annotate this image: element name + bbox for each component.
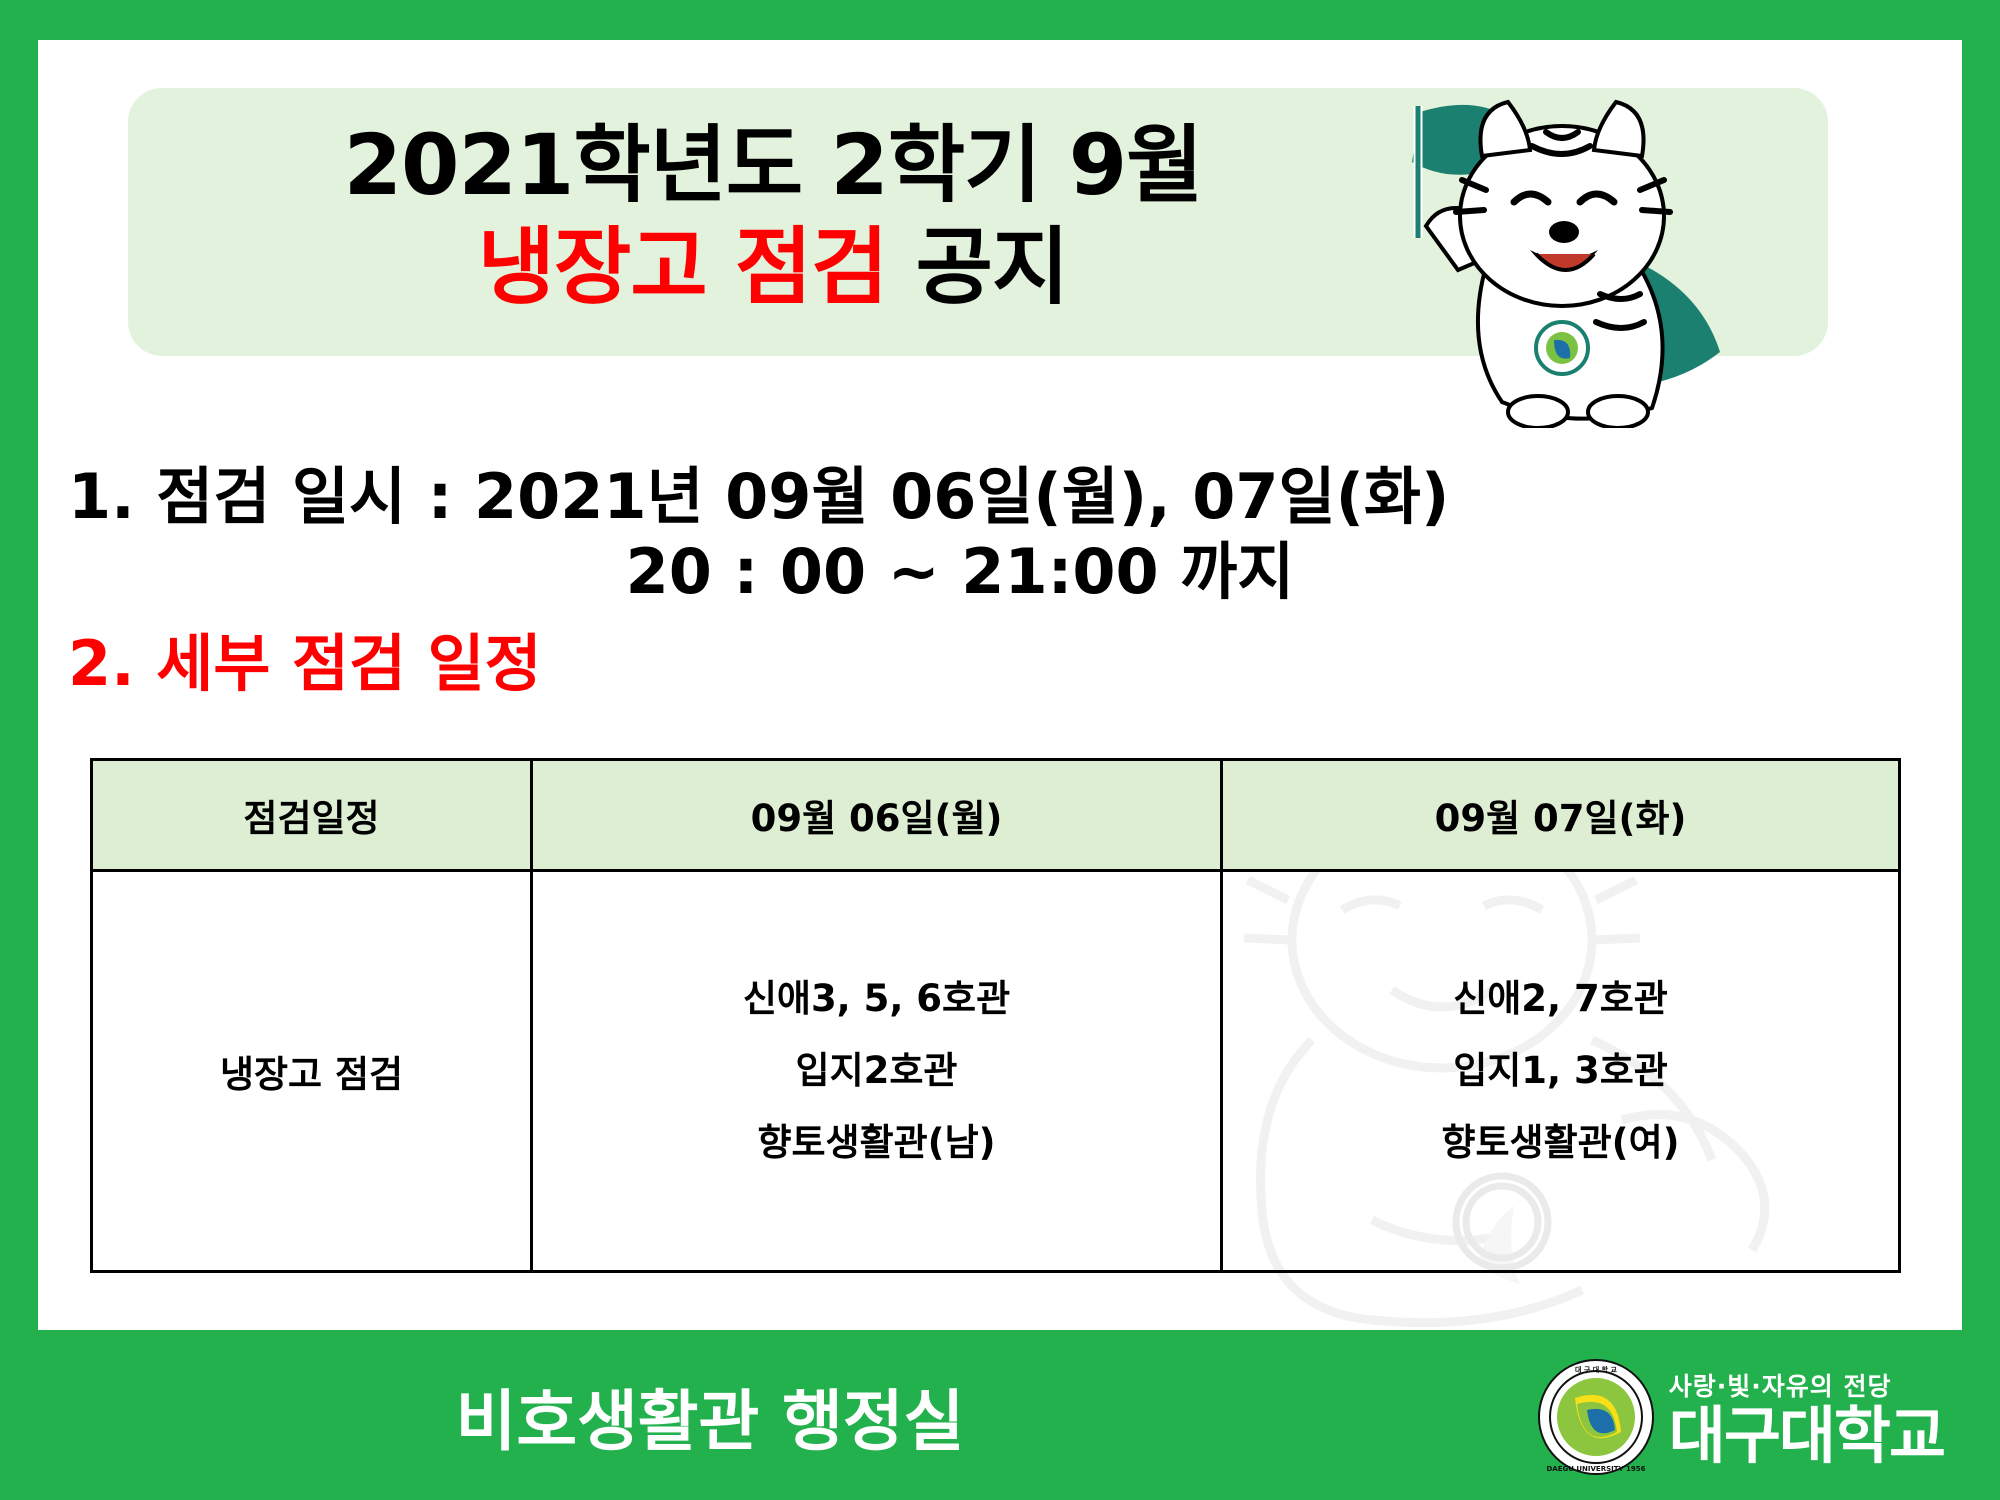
table-header-day1: 09월 06일(월)	[532, 760, 1222, 871]
footer-office-name: 비호생활관 행정실	[0, 1368, 1420, 1464]
title-suffix: 공지	[887, 218, 1068, 316]
day1-line-2: 입지2호관	[533, 1035, 1220, 1107]
cell-day1-buildings: 신애3, 5, 6호관 입지2호관 향토생활관(남)	[532, 871, 1222, 1272]
day2-line-3: 향토생활관(여)	[1223, 1107, 1898, 1179]
row-label-refrigerator-inspection: 냉장고 점검	[92, 871, 532, 1272]
table-header-schedule: 점검일정	[92, 760, 532, 871]
day2-line-2: 입지1, 3호관	[1223, 1035, 1898, 1107]
university-slogan: 사랑·빛·자유의 전당	[1669, 1367, 1944, 1403]
day2-line-1: 신애2, 7호관	[1223, 963, 1898, 1035]
title-line-2: 냉장고 점검 공지	[128, 216, 1418, 318]
emblem-inner-text: 대 구 대 학 교	[1575, 1365, 1618, 1374]
inspection-schedule-table: 점검일정 09월 06일(월) 09월 07일(화) 냉장고 점검 신애3, 5…	[90, 758, 1901, 1273]
detailed-schedule-item: 2. 세부 점검 일정	[38, 627, 1962, 701]
inspection-time-range: 20 : 00 ~ 21:00 까지	[38, 533, 1962, 611]
brand-text-block: 사랑·빛·자유의 전당 대구대학교	[1669, 1367, 1944, 1467]
university-name: 대구대학교	[1669, 1405, 1944, 1467]
university-emblem-icon: 대 구 대 학 교 DAEGU UNIVERSITY 1956	[1537, 1358, 1655, 1476]
poster-footer: 비호생활관 행정실 대 구 대 학 교 DAEGU UNIVERSITY 195…	[0, 1330, 2000, 1500]
title-text-block: 2021학년도 2학기 9월 냉장고 점검 공지	[128, 114, 1418, 319]
day1-line-1: 신애3, 5, 6호관	[533, 963, 1220, 1035]
table-header-day2: 09월 07일(화)	[1222, 760, 1900, 871]
notice-body: 1. 점검 일시 : 2021년 09월 06일(월), 07일(화) 20 :…	[38, 460, 1962, 701]
table-header-row: 점검일정 09월 06일(월) 09월 07일(화)	[92, 760, 1900, 871]
notice-poster: 2021학년도 2학기 9월 냉장고 점검 공지	[0, 0, 2000, 1500]
title-line-1: 2021학년도 2학기 9월	[128, 114, 1418, 216]
notice-content-card: 2021학년도 2학기 9월 냉장고 점검 공지	[38, 40, 1962, 1330]
university-brand-block: 대 구 대 학 교 DAEGU UNIVERSITY 1956 사랑·빛·자유의…	[1537, 1358, 1944, 1476]
cell-day2-buildings: 신애2, 7호관 입지1, 3호관 향토생활관(여)	[1222, 871, 1900, 1272]
title-highlight: 냉장고 점검	[478, 218, 888, 316]
day1-line-3: 향토생활관(남)	[533, 1107, 1220, 1179]
inspection-datetime-item: 1. 점검 일시 : 2021년 09월 06일(월), 07일(화)	[38, 460, 1962, 533]
emblem-ring-text: DAEGU UNIVERSITY 1956	[1546, 1465, 1645, 1473]
tiger-mascot-icon	[1300, 98, 1790, 428]
title-banner: 2021학년도 2학기 9월 냉장고 점검 공지	[128, 88, 1828, 356]
table-row: 냉장고 점검 신애3, 5, 6호관 입지2호관 향토생활관(남) 신애2, 7…	[92, 871, 1900, 1272]
